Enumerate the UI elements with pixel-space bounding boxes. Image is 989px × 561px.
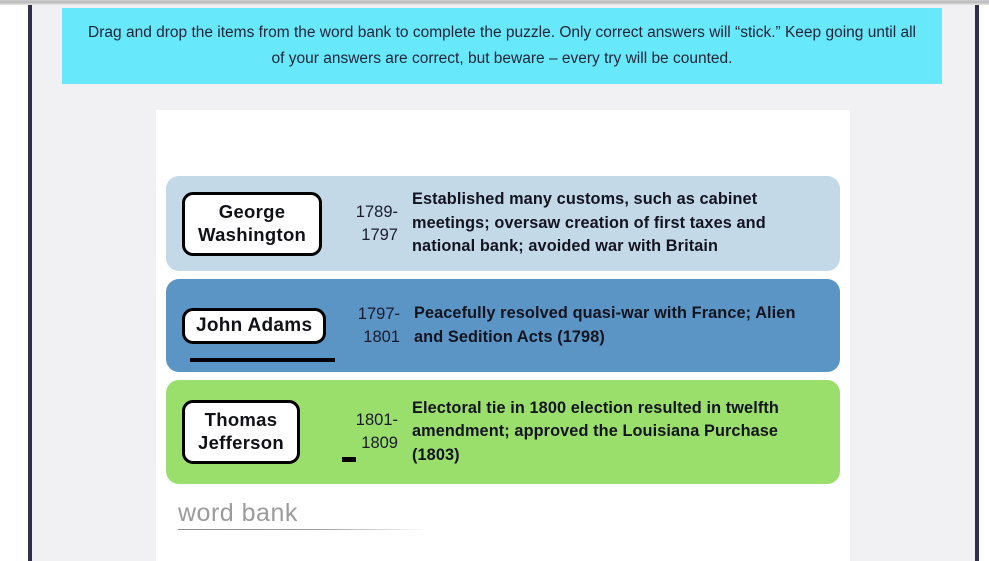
drop-slot-washington[interactable]: George Washington xyxy=(182,192,350,256)
puzzle-panel: George Washington 1789- 1797 Established… xyxy=(156,110,850,561)
left-gutter xyxy=(0,5,28,561)
word-bank-label: word bank xyxy=(178,498,298,528)
left-navigation-rail xyxy=(28,0,32,561)
instruction-text: Drag and drop the items from the word ba… xyxy=(84,20,920,72)
row-description: Electoral tie in 1800 election resulted … xyxy=(406,397,826,468)
puzzle-row[interactable]: John Adams 1797- 1801 Peacefully resolve… xyxy=(166,279,840,372)
window-top-strip xyxy=(0,0,989,5)
word-bank-underline xyxy=(178,529,428,530)
puzzle-row[interactable]: George Washington 1789- 1797 Established… xyxy=(166,176,840,271)
puzzle-row[interactable]: Thomas Jefferson 1801- 1809 Electoral ti… xyxy=(166,380,840,484)
drop-zone-underline xyxy=(190,358,335,362)
draggable-name-card[interactable]: Thomas Jefferson xyxy=(182,400,300,464)
term-years: 1789- 1797 xyxy=(350,201,406,247)
draggable-name-card[interactable]: John Adams xyxy=(182,308,326,344)
right-gutter xyxy=(979,5,989,561)
card-tab-right-icon xyxy=(342,457,356,462)
draggable-name-card[interactable]: George Washington xyxy=(182,192,322,256)
term-years: 1797- 1801 xyxy=(352,303,408,349)
row-description: Established many customs, such as cabine… xyxy=(406,188,826,259)
drop-slot-jefferson[interactable]: Thomas Jefferson xyxy=(182,400,350,464)
page-canvas: Drag and drop the items from the word ba… xyxy=(32,5,975,561)
instruction-banner: Drag and drop the items from the word ba… xyxy=(62,8,942,84)
row-description: Peacefully resolved quasi-war with Franc… xyxy=(408,302,826,349)
drop-slot-adams[interactable]: John Adams xyxy=(182,308,352,344)
word-bank[interactable]: word bank xyxy=(166,498,840,530)
term-years: 1801- 1809 xyxy=(350,409,406,455)
right-navigation-rail xyxy=(975,0,979,561)
